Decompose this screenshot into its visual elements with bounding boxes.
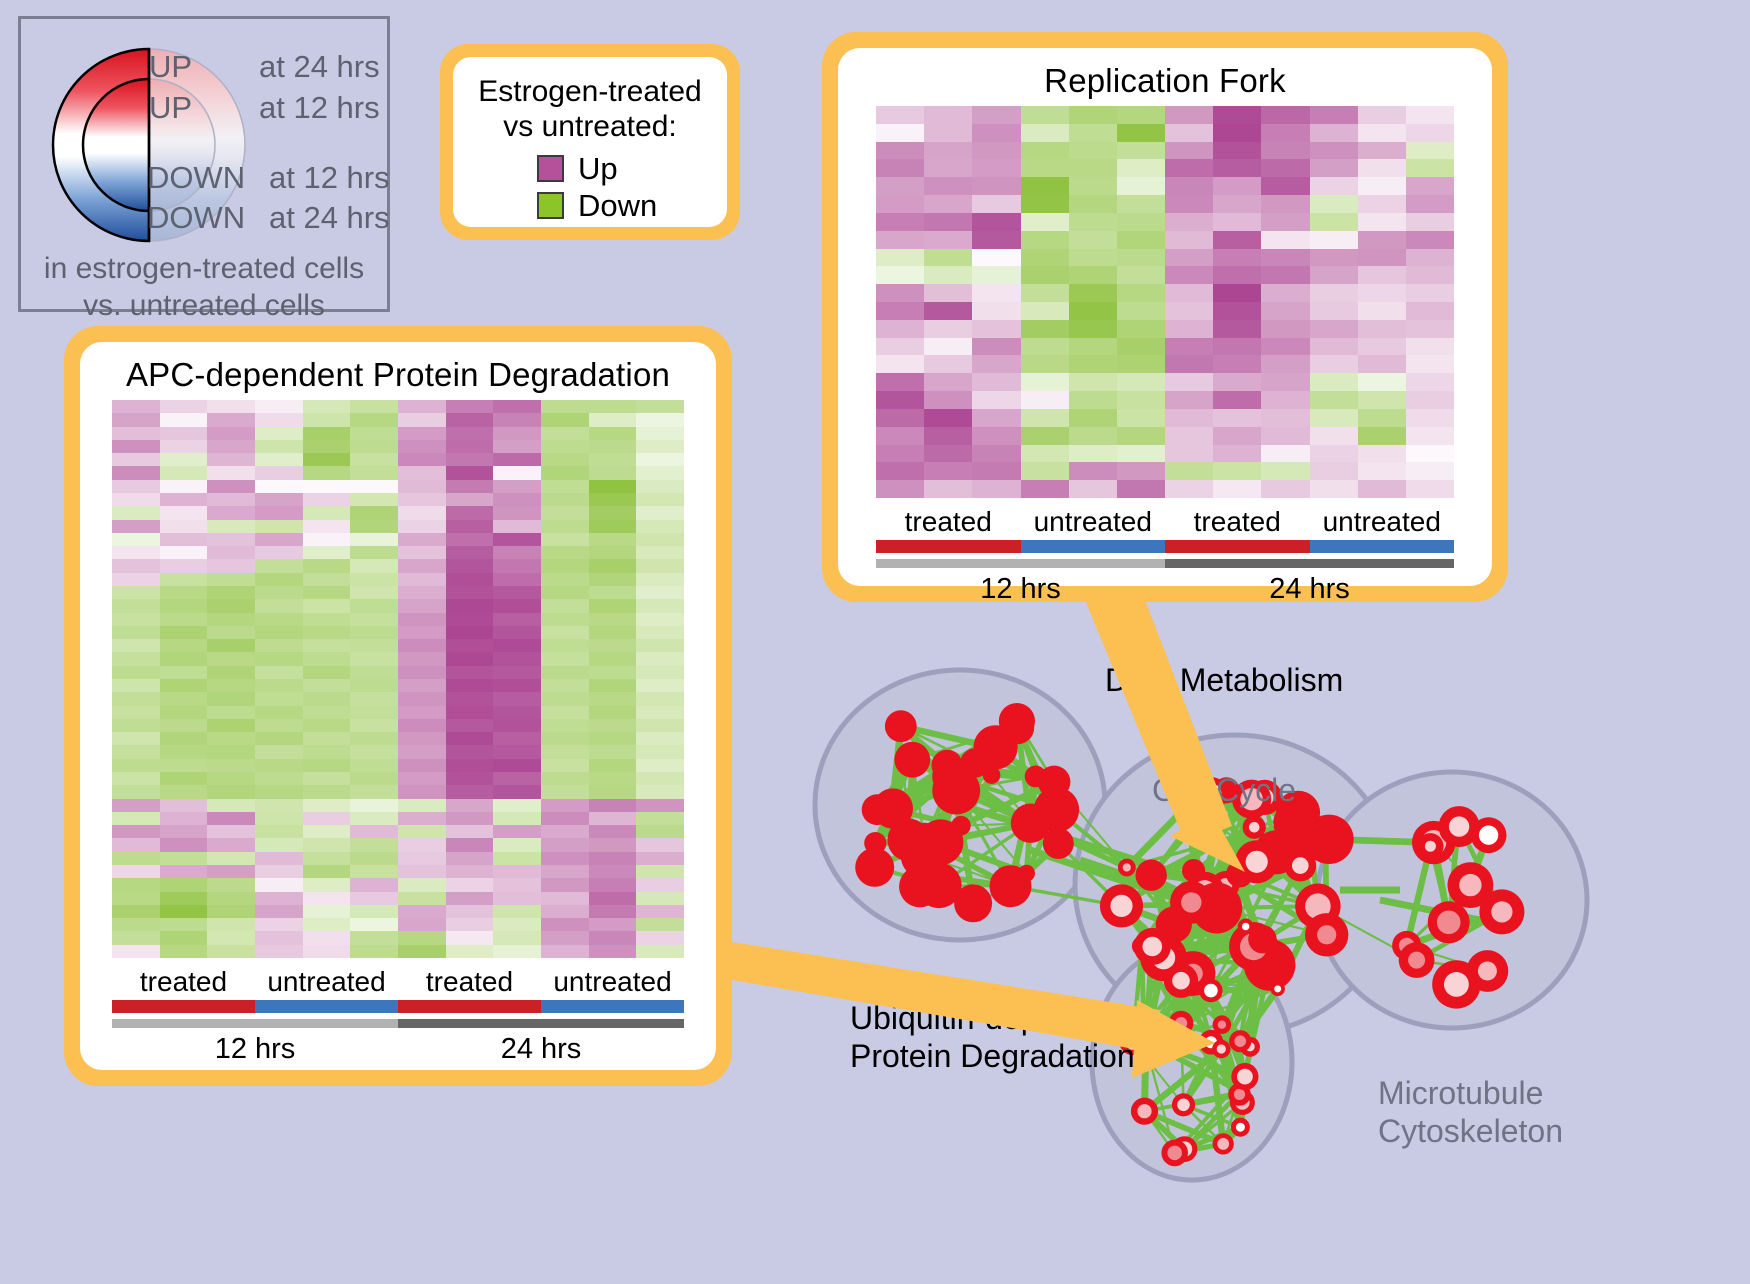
heatmap-cell <box>112 573 160 586</box>
heatmap-cell <box>350 652 398 665</box>
heatmap-cell <box>350 586 398 599</box>
heatmap-cell <box>924 284 972 302</box>
heatmap-cell <box>1310 302 1358 320</box>
network-node[interactable] <box>1018 865 1035 882</box>
network-node[interactable] <box>1001 711 1034 744</box>
heatmap-cell <box>160 466 208 479</box>
heatmap-cell <box>876 320 924 338</box>
heatmap-cell <box>207 905 255 918</box>
heatmap-cell <box>255 413 303 426</box>
network-node[interactable] <box>1133 1029 1154 1050</box>
network-node[interactable] <box>1432 960 1480 1008</box>
heatmap-cell <box>1358 284 1406 302</box>
network-node[interactable] <box>1011 804 1050 843</box>
heatmap-cell <box>876 302 924 320</box>
axis-group-label: treated <box>876 506 1021 538</box>
heatmap-cell <box>924 195 972 213</box>
heatmap-cell <box>1069 355 1117 373</box>
heatmap-cell <box>636 679 684 692</box>
heatmap-cell <box>398 785 446 798</box>
heatmap-cell <box>160 506 208 519</box>
heatmap-cell <box>255 573 303 586</box>
heatmap-cell <box>589 652 637 665</box>
heatmap-cell <box>924 159 972 177</box>
heatmap-cell <box>589 745 637 758</box>
network-node[interactable] <box>1417 833 1443 859</box>
heatmap-cell <box>207 719 255 732</box>
heatmap-cell <box>541 652 589 665</box>
heatmap-cell <box>924 391 972 409</box>
heatmap-cell <box>1406 480 1454 498</box>
heatmap-cell <box>972 249 1020 267</box>
network-node[interactable] <box>1310 826 1340 856</box>
heatmap-cell <box>160 945 208 958</box>
heatmap-cell <box>589 480 637 493</box>
network-node-core <box>1478 962 1497 981</box>
heatmap-cell <box>112 546 160 559</box>
heatmap-cell <box>493 493 541 506</box>
heatmap-cell <box>446 692 494 705</box>
heatmap-cell <box>207 599 255 612</box>
heatmap-cell <box>493 520 541 533</box>
heatmap-cell <box>876 177 924 195</box>
heatmap-cell <box>924 266 972 284</box>
heatmap-cell <box>207 546 255 559</box>
heatmap-cell <box>207 692 255 705</box>
heatmap-cell <box>1117 231 1165 249</box>
heatmap-cell <box>398 573 446 586</box>
cluster-label-dna-metabolism: DNA Metabolism <box>1105 662 1343 700</box>
heatmap-cell <box>636 480 684 493</box>
heatmap-cell <box>636 520 684 533</box>
heatmap-cell <box>112 825 160 838</box>
heatmap-cell <box>1213 106 1261 124</box>
heatmap-cell <box>1069 427 1117 445</box>
heatmap-cell <box>303 759 351 772</box>
heatmap-cell <box>1310 462 1358 480</box>
network-node-core <box>1234 1089 1245 1100</box>
heatmap-cell <box>636 945 684 958</box>
heatmap-cell <box>303 892 351 905</box>
heatmap-cell <box>972 284 1020 302</box>
heatmap-cell <box>446 905 494 918</box>
network-node[interactable] <box>874 792 910 828</box>
heatmap-cell <box>636 493 684 506</box>
heatmap-cell <box>160 785 208 798</box>
heatmap-cell <box>493 440 541 453</box>
heatmap-cell <box>255 639 303 652</box>
heatmap-cell <box>112 413 160 426</box>
heatmap-cell <box>876 462 924 480</box>
heatmap-cell <box>493 679 541 692</box>
heatmap-cell <box>350 506 398 519</box>
heatmap-cell <box>1358 302 1406 320</box>
network-node[interactable] <box>1399 942 1435 978</box>
heatmap-cell <box>207 520 255 533</box>
heatmap-cell <box>589 905 637 918</box>
heatmap-cell <box>493 945 541 958</box>
heatmap-cell <box>1261 284 1309 302</box>
network-node[interactable] <box>1136 860 1167 891</box>
heatmap-cell <box>589 626 637 639</box>
heatmap-cell <box>924 249 972 267</box>
heatmap-cell <box>112 799 160 812</box>
legend-title-line2: vs untreated: <box>461 110 719 145</box>
heatmap-cell <box>1261 462 1309 480</box>
heatmap-cell <box>398 400 446 413</box>
network-node[interactable] <box>1199 979 1222 1002</box>
heatmap-cell <box>924 124 972 142</box>
heatmap-cell <box>398 599 446 612</box>
heatmap-cell <box>207 652 255 665</box>
heatmap-cell <box>493 453 541 466</box>
heatmap-cell <box>493 732 541 745</box>
network-node[interactable] <box>1305 913 1348 956</box>
heatmap-cell <box>350 706 398 719</box>
heatmap-cell <box>398 838 446 851</box>
network-node[interactable] <box>1243 816 1266 839</box>
heatmap-cell <box>160 666 208 679</box>
heatmap-cell <box>1117 355 1165 373</box>
heatmap-cell <box>446 466 494 479</box>
heatmap-cell <box>446 772 494 785</box>
heatmap-cell <box>112 772 160 785</box>
heatmap-cell <box>255 918 303 931</box>
heatmap-cell <box>446 865 494 878</box>
heatmap-cell <box>636 838 684 851</box>
heatmap-cell <box>160 759 208 772</box>
heatmap-cell <box>398 679 446 692</box>
heatmap-cell <box>350 945 398 958</box>
network-node[interactable] <box>1100 884 1143 927</box>
heatmap-cell <box>1406 266 1454 284</box>
heatmap-cell <box>972 373 1020 391</box>
heatmap-cell <box>112 427 160 440</box>
network-node[interactable] <box>960 748 989 777</box>
heatmap-cell <box>493 427 541 440</box>
heatmap-cell <box>398 466 446 479</box>
heatmap-cell <box>636 613 684 626</box>
network-node[interactable] <box>1170 881 1213 924</box>
heatmap-cell <box>350 626 398 639</box>
network-node[interactable] <box>1238 919 1254 935</box>
heatmap-cell <box>541 639 589 652</box>
heatmap-cell <box>1358 427 1406 445</box>
heatmap-cell <box>589 772 637 785</box>
network-node[interactable] <box>1131 1098 1158 1125</box>
heatmap-cell <box>446 652 494 665</box>
heatmap-cell <box>924 231 972 249</box>
heatmap-cell <box>1069 302 1117 320</box>
axis-time-bar <box>112 1019 398 1028</box>
network-node-core <box>1444 972 1469 997</box>
network-node-core <box>1425 841 1436 852</box>
heatmap-cell <box>398 506 446 519</box>
heatmap-cell <box>255 493 303 506</box>
heatmap-cell <box>1069 409 1117 427</box>
heatmap-cell <box>589 599 637 612</box>
heatmap-cell <box>541 573 589 586</box>
heatmap-cell <box>589 706 637 719</box>
heatmap-cell <box>112 652 160 665</box>
heatmap-cell <box>350 825 398 838</box>
heatmap-cell <box>1261 302 1309 320</box>
network-node[interactable] <box>1025 766 1047 788</box>
heatmap-cell <box>1021 427 1069 445</box>
heatmap-cell <box>1213 480 1261 498</box>
heatmap-cell <box>876 480 924 498</box>
heatmap-cell <box>255 679 303 692</box>
axis-group-label: treated <box>112 966 255 998</box>
heatmap-cell <box>1213 391 1261 409</box>
heatmap-cell <box>972 302 1020 320</box>
heatmap-cell <box>303 772 351 785</box>
heatmap-cell <box>1406 284 1454 302</box>
heatmap-cell <box>1021 124 1069 142</box>
apc-degradation-axis: treateduntreatedtreateduntreated 12 hrs2… <box>112 966 684 1066</box>
heatmap-cell <box>1069 213 1117 231</box>
heatmap-cell <box>1213 249 1261 267</box>
network-node[interactable] <box>1206 833 1225 852</box>
heatmap-cell <box>636 453 684 466</box>
heatmap-cell <box>541 785 589 798</box>
heatmap-cell <box>636 905 684 918</box>
heatmap-cell <box>636 546 684 559</box>
heatmap-cell <box>398 772 446 785</box>
heatmap-cell <box>589 466 637 479</box>
heatmap-cell <box>398 892 446 905</box>
heatmap-cell <box>589 878 637 891</box>
network-node[interactable] <box>1134 928 1171 965</box>
heatmap-cell <box>303 931 351 944</box>
heatmap-cell <box>1117 195 1165 213</box>
heatmap-cell <box>924 480 972 498</box>
heatmap-cell <box>446 639 494 652</box>
axis-group-label: untreated <box>1310 506 1455 538</box>
heatmap-cell <box>636 559 684 572</box>
heatmap-cell <box>1310 159 1358 177</box>
heatmap-cell <box>876 142 924 160</box>
heatmap-cell <box>1358 213 1406 231</box>
heatmap-cell <box>924 373 972 391</box>
heatmap-cell <box>303 533 351 546</box>
heatmap-cell <box>924 355 972 373</box>
heatmap-cell <box>1165 462 1213 480</box>
heatmap-cell <box>350 639 398 652</box>
heatmap-cell <box>1213 462 1261 480</box>
heatmap-cell <box>636 652 684 665</box>
network-node[interactable] <box>885 710 917 742</box>
heatmap-cell <box>207 573 255 586</box>
heatmap-cell <box>207 931 255 944</box>
heatmap-cell <box>876 213 924 231</box>
heatmap-cell <box>589 440 637 453</box>
heatmap-cell <box>1117 462 1165 480</box>
heatmap-cell <box>493 506 541 519</box>
heatmap-cell <box>303 613 351 626</box>
heatmap-cell <box>1213 266 1261 284</box>
heatmap-cell <box>541 865 589 878</box>
network-node[interactable] <box>1118 859 1136 877</box>
heatmap-cell <box>1261 177 1309 195</box>
heatmap-cell <box>493 852 541 865</box>
heatmap-cell <box>446 666 494 679</box>
heatmap-cell <box>876 106 924 124</box>
heatmap-cell <box>1069 284 1117 302</box>
heatmap-cell <box>636 852 684 865</box>
heatmap-cell <box>398 427 446 440</box>
heatmap-cell <box>446 626 494 639</box>
heatmap-cell <box>589 759 637 772</box>
heatmap-cell <box>1021 106 1069 124</box>
heatmap-cell <box>1021 195 1069 213</box>
heatmap-cell <box>160 626 208 639</box>
heatmap-cell <box>112 533 160 546</box>
heatmap-cell <box>1069 320 1117 338</box>
heatmap-cell <box>541 480 589 493</box>
heatmap-cell <box>160 918 208 931</box>
heatmap-cell <box>160 613 208 626</box>
heatmap-cell <box>493 772 541 785</box>
heatmap-cell <box>1117 445 1165 463</box>
heatmap-cell <box>446 480 494 493</box>
heatmap-cell <box>350 719 398 732</box>
heatmap-cell <box>350 546 398 559</box>
heatmap-cell <box>350 785 398 798</box>
network-node[interactable] <box>1161 1140 1188 1167</box>
heatmap-cell <box>255 772 303 785</box>
network-node[interactable] <box>855 848 894 887</box>
heatmap-cell <box>303 799 351 812</box>
heatmap-cell <box>398 533 446 546</box>
heatmap-cell <box>1261 480 1309 498</box>
network-node[interactable] <box>1271 982 1285 996</box>
heatmap-cell <box>160 772 208 785</box>
heatmap-cell <box>207 852 255 865</box>
heatmap-cell <box>589 679 637 692</box>
heatmap-cell <box>636 573 684 586</box>
heatmap-cell <box>924 338 972 356</box>
heatmap-cell <box>1310 142 1358 160</box>
network-node[interactable] <box>1235 840 1278 883</box>
heatmap-cell <box>1021 320 1069 338</box>
heatmap-cell <box>303 666 351 679</box>
heatmap-cell <box>1165 142 1213 160</box>
heatmap-cell <box>1165 409 1213 427</box>
network-node-core <box>1137 1104 1151 1118</box>
heatmap-cell <box>160 480 208 493</box>
heatmap-cell <box>446 586 494 599</box>
network-node[interactable] <box>1182 859 1205 882</box>
network-node[interactable] <box>1212 1040 1230 1058</box>
heatmap-cell <box>255 520 303 533</box>
heatmap-cell <box>493 812 541 825</box>
network-node[interactable] <box>1231 1118 1250 1137</box>
heatmap-cell <box>255 559 303 572</box>
heatmap-cell <box>1261 427 1309 445</box>
heatmap-cell <box>112 679 160 692</box>
heatmap-cell <box>1117 106 1165 124</box>
network-node[interactable] <box>894 742 930 778</box>
heatmap-cell <box>589 732 637 745</box>
heatmap-cell <box>446 918 494 931</box>
network-node[interactable] <box>1439 806 1480 847</box>
network-node[interactable] <box>1213 1133 1234 1154</box>
heatmap-cell <box>493 892 541 905</box>
heatmap-cell <box>1406 427 1454 445</box>
heatmap-cell <box>112 639 160 652</box>
heatmap-cell <box>1021 249 1069 267</box>
network-node-core <box>1437 911 1461 935</box>
network-node[interactable] <box>1231 1063 1258 1090</box>
heatmap-cell <box>112 785 160 798</box>
replication-fork-heatmap <box>876 106 1454 498</box>
key-row-0-direction: UP <box>149 49 192 85</box>
heatmap-cell <box>255 719 303 732</box>
heatmap-cell <box>541 453 589 466</box>
heatmap-cell <box>541 613 589 626</box>
heatmap-cell <box>255 812 303 825</box>
heatmap-cell <box>1261 195 1309 213</box>
heatmap-cell <box>493 825 541 838</box>
heatmap-cell <box>876 355 924 373</box>
heatmap-cell <box>1213 195 1261 213</box>
network-node[interactable] <box>1169 1011 1194 1036</box>
heatmap-cell <box>589 692 637 705</box>
heatmap-cell <box>207 586 255 599</box>
axis-time-bar <box>1165 559 1454 568</box>
heatmap-cell <box>112 745 160 758</box>
heatmap-cell <box>303 918 351 931</box>
apc-degradation-heatmap <box>112 400 684 958</box>
network-node[interactable] <box>932 750 963 781</box>
network-node[interactable] <box>907 823 943 859</box>
heatmap-cell <box>112 520 160 533</box>
legend-swatch-up-icon <box>537 155 564 182</box>
axis-time-bar <box>876 559 1165 568</box>
heatmap-cell <box>303 466 351 479</box>
heatmap-cell <box>1213 142 1261 160</box>
network-node[interactable] <box>1164 964 1198 998</box>
heatmap-cell <box>207 878 255 891</box>
network-node[interactable] <box>1428 901 1470 943</box>
heatmap-cell <box>541 692 589 705</box>
heatmap-cell <box>160 838 208 851</box>
heatmap-cell <box>160 453 208 466</box>
heatmap-cell <box>1358 320 1406 338</box>
heatmap-cell <box>1165 480 1213 498</box>
heatmap-cell <box>972 409 1020 427</box>
heatmap-cell <box>446 559 494 572</box>
network-node[interactable] <box>1229 1030 1251 1052</box>
heatmap-cell <box>589 520 637 533</box>
heatmap-cell <box>972 195 1020 213</box>
heatmap-cell <box>1406 338 1454 356</box>
network-node[interactable] <box>1284 850 1316 882</box>
heatmap-cell <box>493 639 541 652</box>
heatmap-cell <box>350 931 398 944</box>
heatmap-cell <box>589 852 637 865</box>
network-node[interactable] <box>1479 889 1524 934</box>
axis-time-label: 24 hrs <box>398 1033 684 1066</box>
heatmap-cell <box>350 878 398 891</box>
heatmap-cell <box>1261 213 1309 231</box>
heatmap-cell <box>636 692 684 705</box>
heatmap-cell <box>160 413 208 426</box>
heatmap-cell <box>1261 373 1309 391</box>
network-node[interactable] <box>1172 1093 1195 1116</box>
heatmap-cell <box>1310 213 1358 231</box>
